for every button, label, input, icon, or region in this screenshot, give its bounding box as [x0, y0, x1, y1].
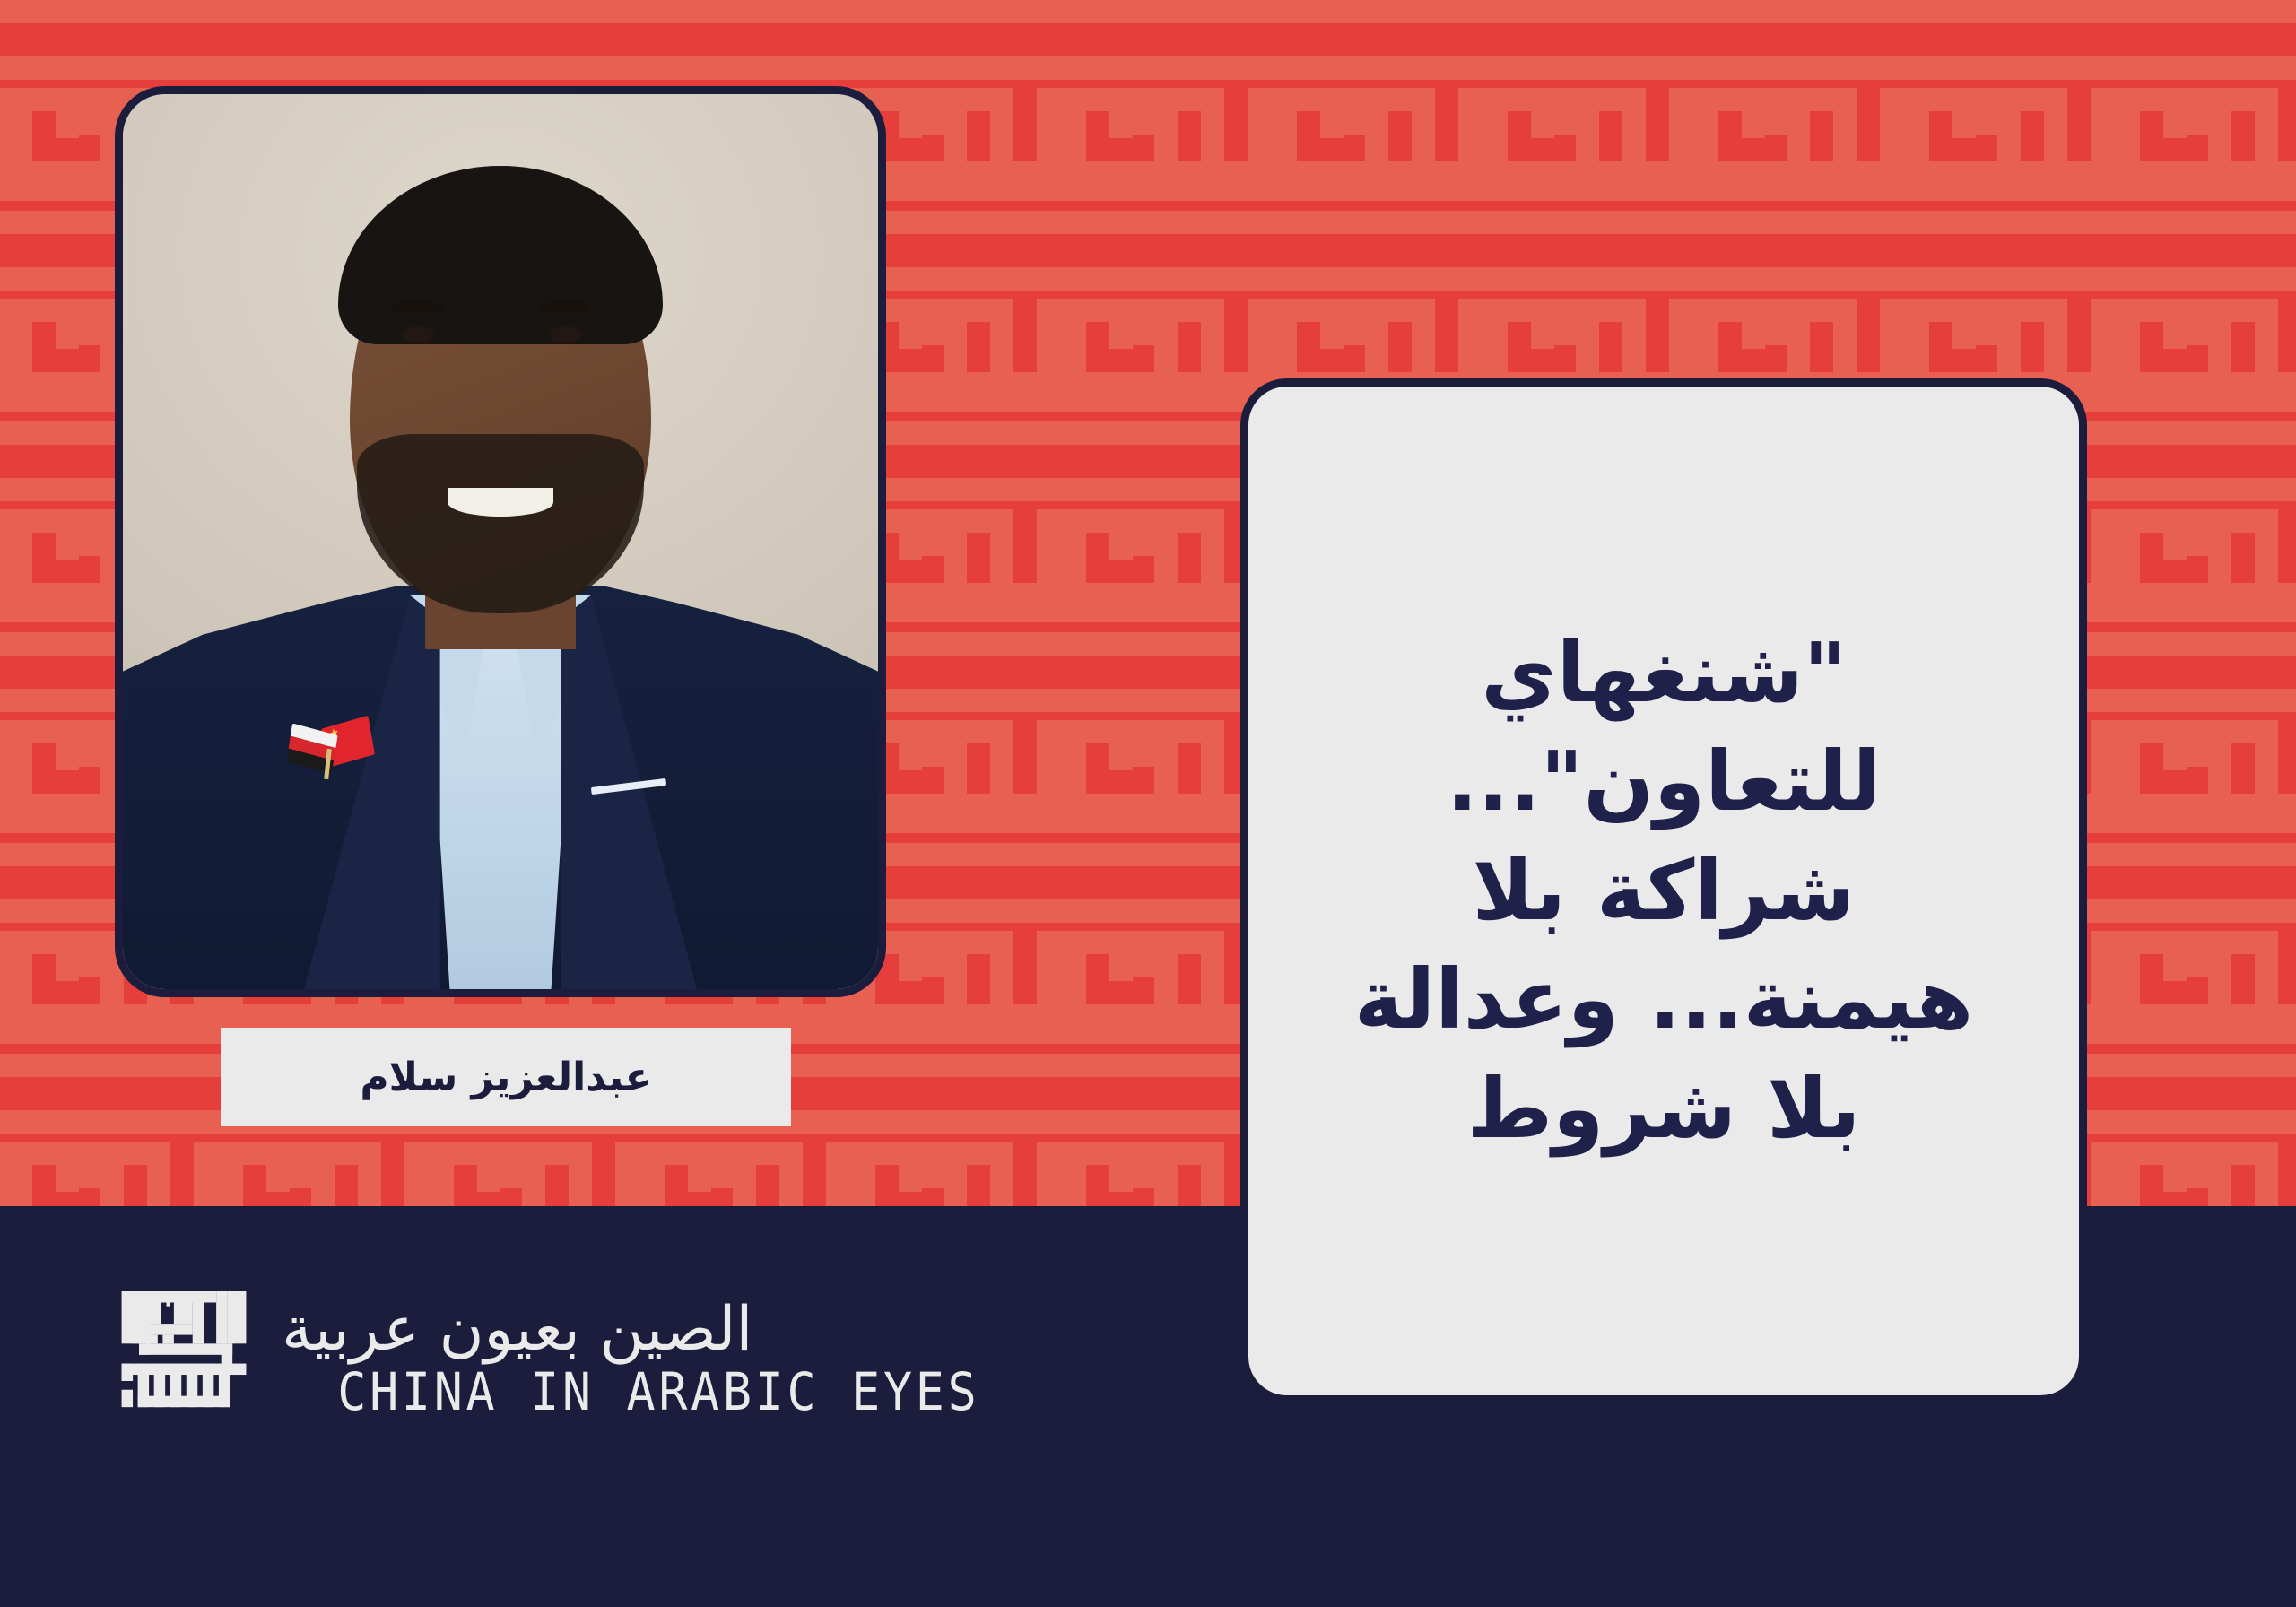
headline-card: "شنغهاي للتعاون"... شراكة بلا هيمنة... و…: [1240, 378, 2087, 1403]
brand-wordmark: الصين بعيون عربية CHINA IN ARABIC EYES: [282, 1299, 979, 1418]
byline-name: عبدالعزيز سلام: [360, 1055, 651, 1100]
byline-name-plate: عبدالعزيز سلام: [221, 1028, 791, 1126]
portrait-frame: [115, 86, 886, 997]
headline-text: "شنغهاي للتعاون"... شراكة بلا هيمنة... و…: [1311, 619, 2016, 1163]
brand-name-english: CHINA IN ARABIC EYES: [337, 1366, 979, 1418]
eyebrow-left: [391, 302, 444, 313]
crossed-flags-pin-icon: [289, 721, 372, 779]
portrait-photo: [123, 94, 878, 989]
brand-logo: الصين بعيون عربية CHINA IN ARABIC EYES: [117, 1291, 979, 1426]
hair: [338, 166, 663, 345]
kufic-square-logo-mark-icon: [117, 1291, 251, 1426]
social-card: عبدالعزيز سلام "شنغهاي للتعاون"... شراكة…: [0, 0, 2296, 1607]
smile: [448, 488, 553, 517]
beard: [357, 434, 644, 613]
eyebrow-right: [538, 302, 591, 313]
brand-name-arabic: الصين بعيون عربية: [282, 1299, 752, 1360]
